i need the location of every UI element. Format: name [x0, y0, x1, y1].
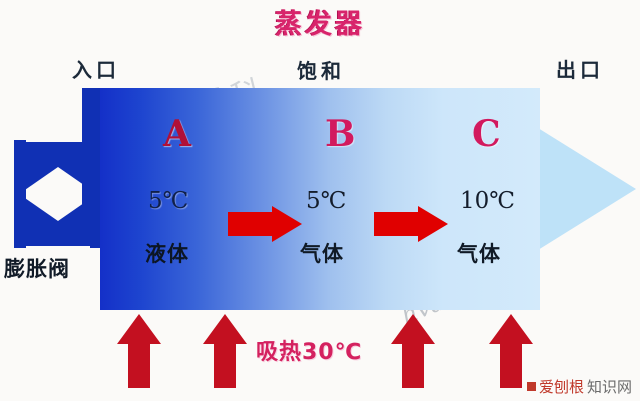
credit-rest-text: 知识网: [587, 376, 632, 397]
heat-arrow-head: [489, 314, 533, 344]
heat-arrow-shaft: [214, 340, 236, 388]
heat-arrow-icon: [117, 314, 161, 386]
site-credit: 爱刨根 知识网: [527, 376, 632, 397]
heat-arrow-icon: [391, 314, 435, 386]
page-title: 蒸发器: [0, 2, 640, 41]
valve-triangle-bottom-right: [22, 196, 94, 246]
stage-letter-b: B: [325, 113, 355, 155]
heat-arrow-shaft: [500, 340, 522, 388]
label-saturated: 饱和: [297, 55, 345, 84]
stage-letter-c: C: [472, 113, 501, 155]
credit-accent-text: 爱刨根: [539, 376, 584, 397]
heat-arrow-shaft: [402, 340, 424, 388]
heat-arrow-head: [203, 314, 247, 344]
credit-square-icon: [527, 382, 536, 391]
phase-c: 气体: [457, 238, 501, 268]
outlet-arrow-icon: [538, 128, 636, 250]
label-expansion-valve: 膨胀阀: [4, 253, 70, 283]
temperature-a: 5℃: [148, 188, 188, 214]
heat-arrow-head: [391, 314, 435, 344]
heat-arrow-icon: [203, 314, 247, 386]
diagram-canvas: 蒸发器 制冷百科 微信公众号 hvacr 入口 饱和 出口 膨胀阀 A B C …: [0, 0, 640, 401]
label-inlet: 入口: [72, 54, 120, 83]
flow-arrow-shaft: [374, 212, 420, 236]
flow-arrow-head: [272, 206, 302, 242]
valve-triangle-top-right: [22, 142, 94, 192]
flow-arrow-head: [418, 206, 448, 242]
stage-letter-a: A: [163, 113, 191, 155]
expansion-valve-icon: [14, 140, 114, 248]
flow-arrow-shaft: [228, 212, 274, 236]
label-heat-absorption: 吸热30℃: [256, 334, 362, 366]
temperature-b: 5℃: [306, 188, 346, 214]
phase-b: 气体: [300, 238, 344, 268]
label-outlet: 出口: [556, 54, 604, 83]
heat-arrow-shaft: [128, 340, 150, 388]
heat-arrow-head: [117, 314, 161, 344]
phase-a: 液体: [145, 238, 189, 268]
temperature-c: 10℃: [460, 188, 515, 214]
